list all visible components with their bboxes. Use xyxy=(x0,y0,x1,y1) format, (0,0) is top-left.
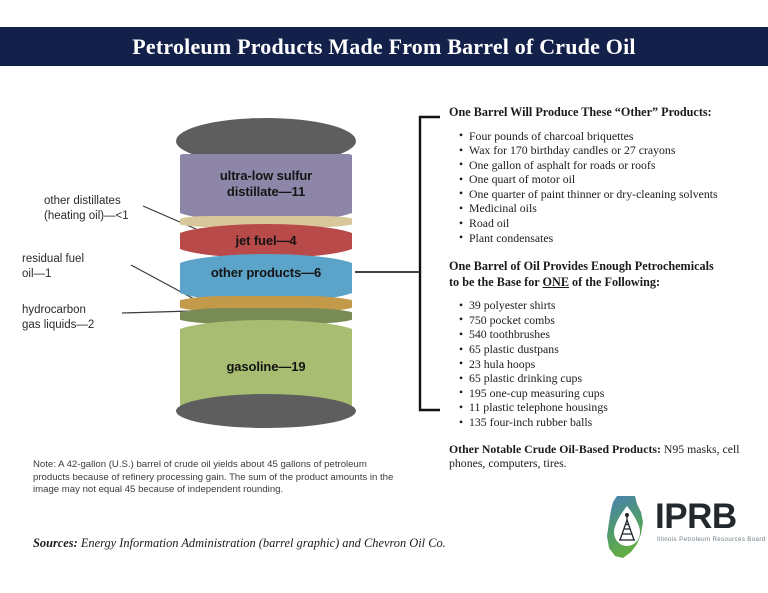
list-item: 23 hula hoops xyxy=(459,357,759,372)
footnote-note: Note: A 42-gallon (U.S.) barrel of crude… xyxy=(33,459,405,497)
label-residual-fuel-oil-line2: oil—1 xyxy=(22,267,84,282)
label-other-distillates-line2: (heating oil)—<1 xyxy=(44,209,129,224)
list-item: 750 pocket combs xyxy=(459,313,759,328)
list-item: One quart of motor oil xyxy=(459,172,759,187)
band-label-other-products: other products—6 xyxy=(180,265,352,281)
illinois-state-icon xyxy=(597,492,657,564)
iprb-logo: IPRB Illinois Petroleum Resources Board xyxy=(597,492,749,564)
sources-label: Sources: xyxy=(33,536,78,550)
band-label-jet-fuel: jet fuel—4 xyxy=(180,233,352,249)
label-hydrocarbon-gas: hydrocarbon gas liquids—2 xyxy=(22,303,94,333)
notable-products-label: Other Notable Crude Oil-Based Products: xyxy=(449,442,661,456)
derrick-top-dot xyxy=(625,513,629,517)
petrochemicals-heading-line2-post: of the Following: xyxy=(569,275,660,289)
petrochemicals-heading-line2-pre: to be the Base for xyxy=(449,275,543,289)
panel-spacer-2 xyxy=(449,430,759,442)
petrochemicals-heading-line1: One Barrel of Oil Provides Enough Petroc… xyxy=(449,259,714,273)
list-item: 540 toothbrushes xyxy=(459,327,759,342)
sources-text: Energy Information Administration (barre… xyxy=(78,536,446,550)
band-label-ulsd-line1: ultra-low sulfur xyxy=(180,168,352,184)
barrel-bottom-cap xyxy=(176,394,356,428)
label-other-distillates-line1: other distillates xyxy=(44,194,129,209)
notable-products-line: Other Notable Crude Oil-Based Products: … xyxy=(449,442,759,471)
infographic-page: Petroleum Products Made From Barrel of C… xyxy=(0,0,768,593)
panel-spacer-1 xyxy=(449,245,759,259)
page-title: Petroleum Products Made From Barrel of C… xyxy=(132,34,636,60)
sources-line: Sources: Energy Information Administrati… xyxy=(33,536,446,551)
list-item: Plant condensates xyxy=(459,231,759,246)
label-hydrocarbon-gas-line1: hydrocarbon xyxy=(22,303,94,318)
band-label-ulsd: ultra-low sulfurdistillate—11 xyxy=(180,168,352,200)
list-item: Medicinal oils xyxy=(459,201,759,216)
petrochemicals-heading-emphasis: ONE xyxy=(543,275,569,289)
label-residual-fuel-oil-line1: residual fuel xyxy=(22,252,84,267)
label-hydrocarbon-gas-line2: gas liquids—2 xyxy=(22,318,94,333)
petrochemicals-list: 39 polyester shirts750 pocket combs540 t… xyxy=(449,298,759,429)
list-item: Road oil xyxy=(459,216,759,231)
right-bracket xyxy=(420,117,440,410)
list-item: Four pounds of charcoal briquettes xyxy=(459,129,759,144)
crude-oil-barrel: ultra-low sulfurdistillate—11 jet fuel—4… xyxy=(176,118,356,428)
label-residual-fuel-oil: residual fuel oil—1 xyxy=(22,252,84,282)
logo-tagline: Illinois Petroleum Resources Board xyxy=(657,536,766,543)
list-item: 65 plastic dustpans xyxy=(459,342,759,357)
list-item: 135 four-inch rubber balls xyxy=(459,415,759,430)
band-label-ulsd-line2: distillate—11 xyxy=(180,184,352,200)
other-products-list: Four pounds of charcoal briquettesWax fo… xyxy=(449,129,759,246)
list-item: One quarter of paint thinner or dry-clea… xyxy=(459,187,759,202)
list-item: One gallon of asphalt for roads or roofs xyxy=(459,158,759,173)
petrochemicals-heading: One Barrel of Oil Provides Enough Petroc… xyxy=(449,259,759,290)
list-item: Wax for 170 birthday candles or 27 crayo… xyxy=(459,143,759,158)
band-label-gasoline: gasoline—19 xyxy=(180,359,352,375)
list-item: 65 plastic drinking cups xyxy=(459,371,759,386)
products-panel: One Barrel Will Produce These “Other” Pr… xyxy=(449,105,759,471)
list-item: 39 polyester shirts xyxy=(459,298,759,313)
list-item: 11 plastic telephone housings xyxy=(459,400,759,415)
header-bar: Petroleum Products Made From Barrel of C… xyxy=(0,27,768,66)
other-products-heading: One Barrel Will Produce These “Other” Pr… xyxy=(449,105,759,121)
label-other-distillates: other distillates (heating oil)—<1 xyxy=(44,194,129,224)
barrel-body: ultra-low sulfurdistillate—11 jet fuel—4… xyxy=(180,154,352,416)
logo-wordmark: IPRB xyxy=(655,498,737,536)
list-item: 195 one-cup measuring cups xyxy=(459,386,759,401)
